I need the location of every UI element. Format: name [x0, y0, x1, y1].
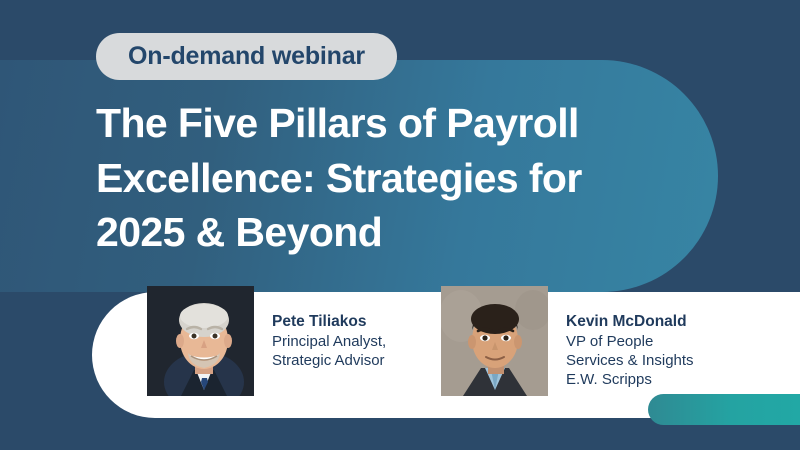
speaker-role-line-1: Principal Analyst,: [272, 332, 386, 351]
speaker-role-line-2: Services & Insights: [566, 351, 694, 370]
speaker-role-line-3: E.W. Scripps: [566, 370, 694, 389]
speaker-headshot-kevin-mcdonald: [441, 286, 548, 396]
speaker-block-pete-tiliakos: Pete Tiliakos Principal Analyst, Strateg…: [147, 286, 386, 396]
speaker-info-kevin-mcdonald: Kevin McDonald VP of People Services & I…: [566, 286, 694, 389]
headline-line-2: Excellence: Strategies for: [96, 151, 676, 206]
speaker-role-line-2: Strategic Advisor: [272, 351, 386, 370]
headline-line-1: The Five Pillars of Payroll: [96, 96, 676, 151]
speaker-block-kevin-mcdonald: Kevin McDonald VP of People Services & I…: [441, 286, 694, 396]
on-demand-webinar-badge: On-demand webinar: [96, 33, 397, 80]
speaker-headshot-pete-tiliakos: [147, 286, 254, 396]
speaker-info-pete-tiliakos: Pete Tiliakos Principal Analyst, Strateg…: [272, 286, 386, 370]
speaker-name: Kevin McDonald: [566, 312, 694, 332]
page-title: The Five Pillars of Payroll Excellence: …: [96, 96, 676, 260]
speaker-name: Pete Tiliakos: [272, 312, 386, 332]
badge-label: On-demand webinar: [128, 42, 365, 71]
headline-line-3: 2025 & Beyond: [96, 205, 676, 260]
speaker-role-line-1: VP of People: [566, 332, 694, 351]
webinar-promo-card: On-demand webinar The Five Pillars of Pa…: [0, 0, 800, 450]
accent-bar: [648, 394, 800, 425]
